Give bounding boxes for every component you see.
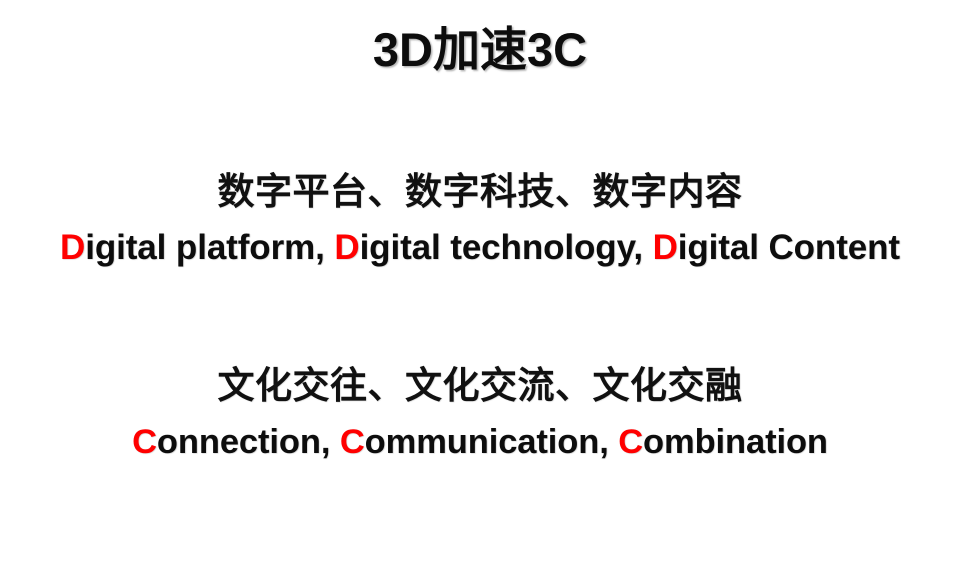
initial-letter-d1: D	[60, 228, 85, 267]
initial-letter-d2: D	[334, 228, 359, 267]
page-title: 3D加速3C	[0, 18, 960, 82]
word-digital-content: igital Content	[678, 228, 900, 267]
initial-letter-c2: C	[340, 423, 365, 461]
chinese-heading-culture: 文化交往、文化交流、文化交融	[0, 362, 960, 412]
english-heading-culture: Connection, Communication, Combination	[0, 418, 960, 466]
word-digital-platform: igital platform,	[85, 228, 325, 267]
slide-canvas: 3D加速3C 数字平台、数字科技、数字内容 Digital platform, …	[0, 0, 960, 571]
initial-letter-c3: C	[618, 423, 643, 461]
word-digital-technology: igital technology,	[360, 228, 643, 267]
initial-letter-c1: C	[132, 423, 157, 461]
content-block-culture: 文化交往、文化交流、文化交融 Connection, Communication…	[0, 362, 960, 466]
english-heading-digital: Digital platform, Digital technology, Di…	[0, 224, 960, 272]
content-block-digital: 数字平台、数字科技、数字内容 Digital platform, Digital…	[0, 168, 960, 272]
chinese-heading-digital: 数字平台、数字科技、数字内容	[0, 168, 960, 218]
word-combination: ombination	[643, 423, 828, 461]
word-communication: ommunication,	[365, 423, 609, 461]
initial-letter-d3: D	[653, 228, 678, 267]
word-connection: onnection,	[157, 423, 330, 461]
